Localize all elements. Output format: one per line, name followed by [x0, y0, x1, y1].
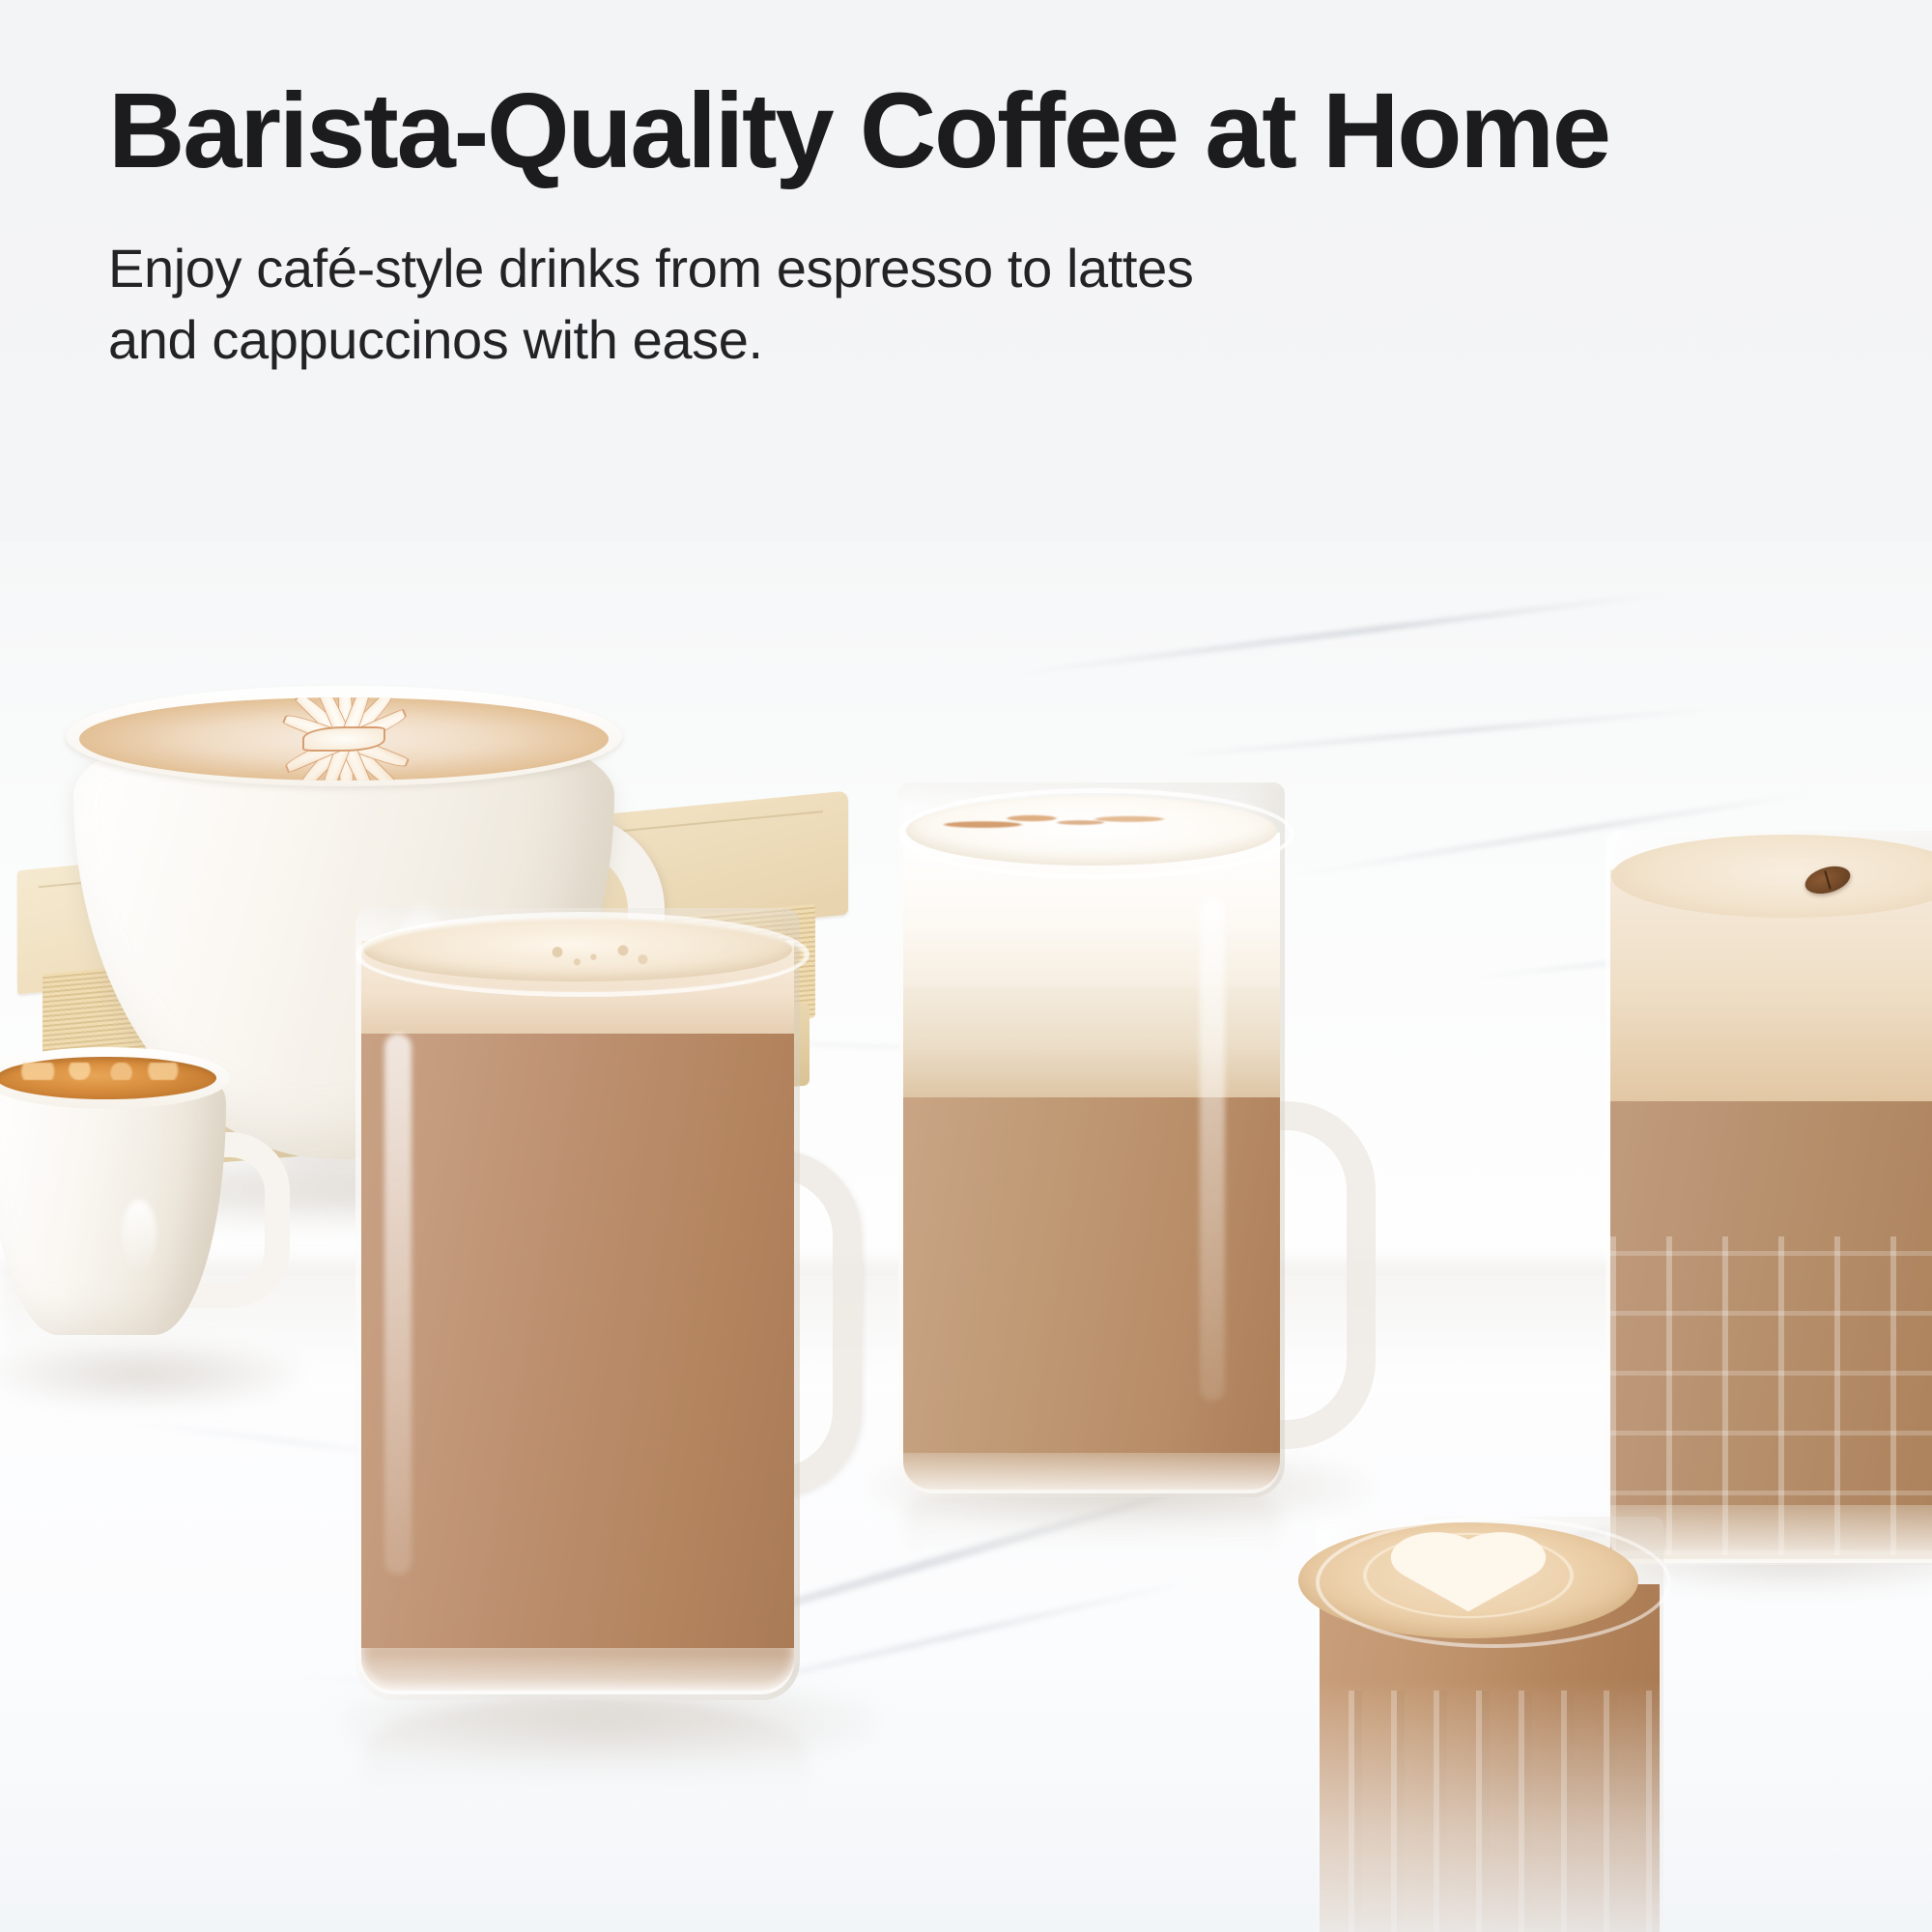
page-title: Barista-Quality Coffee at Home: [108, 75, 1866, 188]
coffee-photo: [0, 541, 1932, 1932]
glass-highlight: [1200, 898, 1225, 1401]
macchiato-glass-body: [898, 782, 1285, 1497]
marble-vein: [1141, 704, 1738, 761]
latte-mug-body: [355, 908, 800, 1700]
glass-base: [903, 1453, 1280, 1493]
latte-macchiato-glass: [898, 782, 1362, 1748]
espresso-cup: [0, 1043, 296, 1372]
tumbler-flutes: [1320, 1690, 1660, 1932]
glass-base: [361, 1648, 794, 1694]
flat-white-glass-body: [1605, 831, 1932, 1565]
promo-banner: Barista-Quality Coffee at Home Enjoy caf…: [0, 0, 1932, 1932]
latte-coffee: [361, 983, 794, 1690]
latte-mug-rim: [355, 912, 810, 997]
glass-highlight: [384, 1034, 412, 1575]
cappuccino-crema: [79, 697, 609, 781]
page-subtitle: Enjoy café-style drinks from espresso to…: [108, 233, 1287, 377]
marble-vein: [1007, 588, 1679, 677]
banner-text-block: Barista-Quality Coffee at Home Enjoy caf…: [108, 75, 1866, 377]
rosetta-latte-art: [136, 707, 552, 771]
espresso-crema: [0, 1057, 216, 1099]
tumbler-rim: [1316, 1517, 1671, 1648]
macchiato-rim: [898, 788, 1294, 879]
cortado-tumbler: [1294, 1517, 1700, 1932]
rosetta-center: [302, 726, 385, 752]
latte-glass-mug: [355, 908, 858, 1748]
coffee-bean-garnish: [1802, 862, 1853, 898]
